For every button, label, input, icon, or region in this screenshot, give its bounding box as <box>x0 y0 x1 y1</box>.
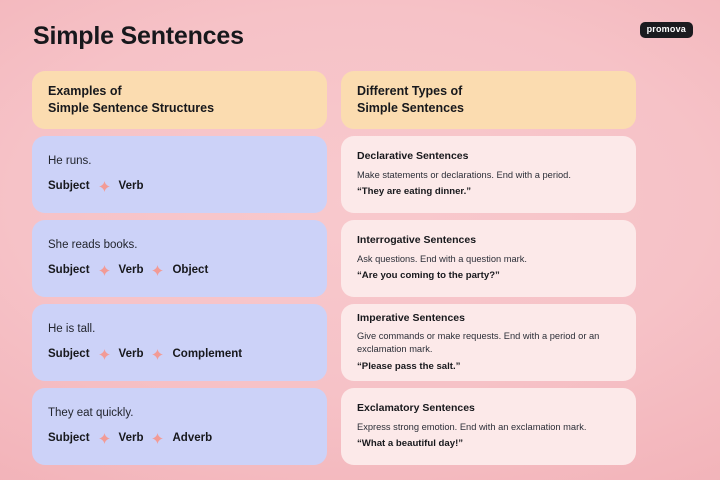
page-title: Simple Sentences <box>33 22 244 51</box>
structure-formula: Subject Verb <box>48 181 311 193</box>
structure-part: Subject <box>48 181 90 193</box>
structure-part: Adverb <box>172 433 212 445</box>
sentence-type-title: Imperative Sentences <box>357 313 621 325</box>
sentence-type-card[interactable]: Interrogative Sentences Ask questions. E… <box>341 220 636 297</box>
columns-container: Examples of Simple Sentence Structures H… <box>0 71 720 465</box>
sentence-type-card[interactable]: Exclamatory Sentences Express strong emo… <box>341 388 636 465</box>
structure-part: Verb <box>119 349 144 361</box>
right-header-line-1: Different Types of <box>357 83 620 100</box>
structure-card[interactable]: He is tall. Subject Verb Complement <box>32 304 327 381</box>
structure-formula: Subject Verb Object <box>48 265 311 277</box>
structure-example-sentence: He is tall. <box>48 324 311 336</box>
sentence-type-example: “They are eating dinner.” <box>357 187 621 198</box>
plus-icon <box>152 433 163 444</box>
structure-example-sentence: She reads books. <box>48 240 311 252</box>
structure-part: Verb <box>119 265 144 277</box>
left-column-structures: Examples of Simple Sentence Structures H… <box>32 71 327 465</box>
structure-formula: Subject Verb Adverb <box>48 433 311 445</box>
structure-card[interactable]: He runs. Subject Verb <box>32 136 327 213</box>
sentence-type-title: Declarative Sentences <box>357 151 621 163</box>
plus-icon <box>99 349 110 360</box>
plus-icon <box>99 433 110 444</box>
poster-canvas: Simple Sentences promova Examples of Sim… <box>0 0 720 480</box>
structure-part: Verb <box>119 433 144 445</box>
sentence-type-title: Interrogative Sentences <box>357 235 621 247</box>
brand-logo-promova: promova <box>640 22 693 38</box>
sentence-type-example: “Are you coming to the party?” <box>357 271 621 282</box>
structure-card[interactable]: They eat quickly. Subject Verb Adve <box>32 388 327 465</box>
right-column-header: Different Types of Simple Sentences <box>341 71 636 129</box>
sentence-type-card[interactable]: Imperative Sentences Give commands or ma… <box>341 304 636 381</box>
structure-example-sentence: He runs. <box>48 156 311 168</box>
structure-part: Object <box>172 265 208 277</box>
sentence-type-description: Express strong emotion. End with an excl… <box>357 421 619 434</box>
structure-part: Subject <box>48 349 90 361</box>
plus-icon <box>152 265 163 276</box>
structure-example-sentence: They eat quickly. <box>48 408 311 420</box>
left-header-line-2: Simple Sentence Structures <box>48 100 311 117</box>
right-column-types: Different Types of Simple Sentences Decl… <box>341 71 636 465</box>
sentence-type-card[interactable]: Declarative Sentences Make statements or… <box>341 136 636 213</box>
sentence-type-example: “What a beautiful day!” <box>357 439 621 450</box>
sentence-type-description: Ask questions. End with a question mark. <box>357 253 619 266</box>
structure-part: Subject <box>48 433 90 445</box>
right-header-line-2: Simple Sentences <box>357 100 620 117</box>
plus-icon <box>99 181 110 192</box>
structure-part: Subject <box>48 265 90 277</box>
structure-part: Complement <box>172 349 242 361</box>
structure-formula: Subject Verb Complement <box>48 349 311 361</box>
structure-card[interactable]: She reads books. Subject Verb Objec <box>32 220 327 297</box>
left-header-line-1: Examples of <box>48 83 311 100</box>
plus-icon <box>152 349 163 360</box>
structure-part: Verb <box>119 181 144 193</box>
sentence-type-example: “Please pass the salt.” <box>357 362 621 373</box>
sentence-type-description: Give commands or make requests. End with… <box>357 330 619 356</box>
plus-icon <box>99 265 110 276</box>
left-column-header: Examples of Simple Sentence Structures <box>32 71 327 129</box>
sentence-type-description: Make statements or declarations. End wit… <box>357 169 619 182</box>
sentence-type-title: Exclamatory Sentences <box>357 403 621 415</box>
